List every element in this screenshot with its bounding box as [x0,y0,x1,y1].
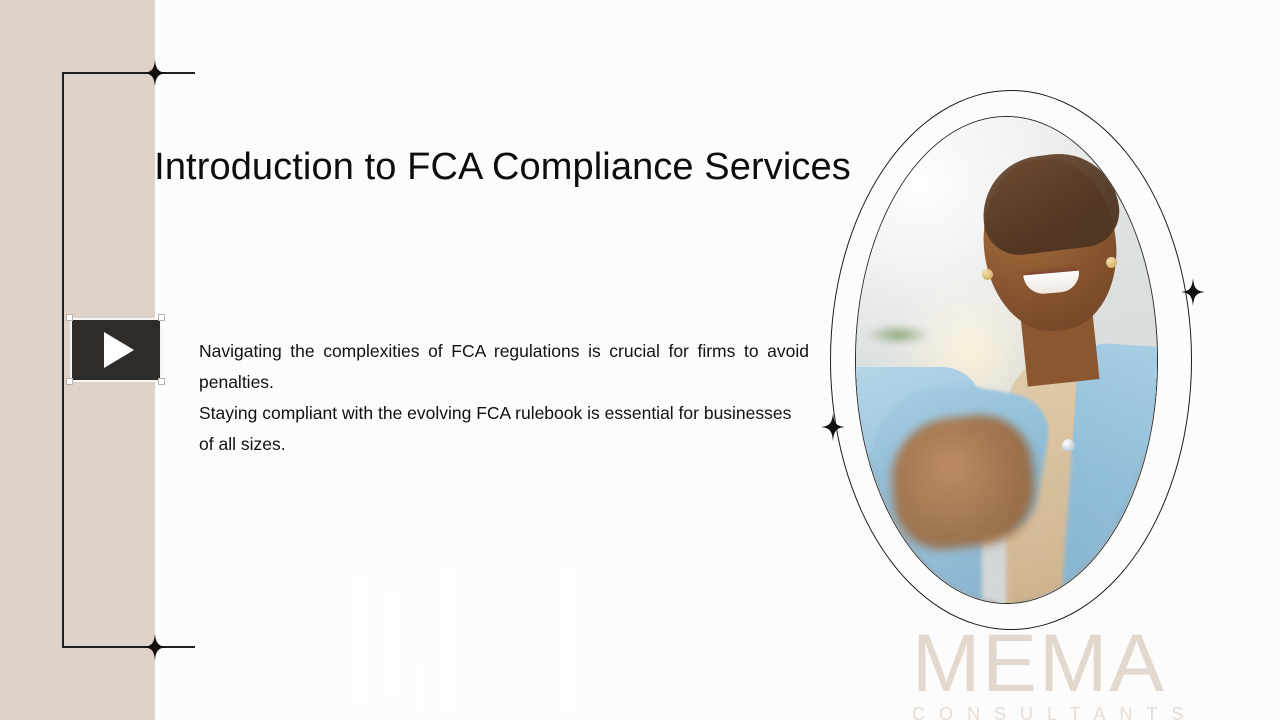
brand-logo-subtitle: CONSULTANTS [912,704,1272,720]
decor-frame-left-line [62,72,64,648]
resize-handle-bottom-right[interactable] [158,378,165,385]
play-icon [104,332,134,368]
slide-body: Navigating the complexities of FCA regul… [199,336,809,460]
watermark-shape [408,656,426,714]
decor-frame-bottom-line [62,646,195,648]
watermark-shape [348,570,374,707]
play-video-button[interactable] [70,318,162,382]
resize-handle-top-right[interactable] [158,314,165,321]
resize-handle-top-left[interactable] [66,314,73,321]
earring-left [982,269,993,280]
watermark-shape [438,566,464,720]
lapel-pin [1062,439,1075,452]
portrait-photo [856,117,1157,603]
portrait-image [855,116,1158,604]
body-paragraph-2: Staying compliant with the evolving FCA … [199,398,809,460]
body-paragraph-1: Navigating the complexities of FCA regul… [199,336,809,398]
earring-right [1106,257,1117,268]
background-watermark [330,560,690,720]
watermark-shape [382,588,406,700]
resize-handle-bottom-left[interactable] [66,378,73,385]
hair [977,147,1124,259]
photo-bottom-blur [856,453,1157,603]
brand-logo-mark: MEMA [912,628,1272,700]
brand-logo: MEMA CONSULTANTS [912,628,1272,720]
watermark-shape [552,564,578,716]
slide-title: Introduction to FCA Compliance Services [150,136,855,198]
presentation-slide: Introduction to FCA Compliance Services … [0,0,1280,720]
decor-frame-top-line [62,72,195,74]
